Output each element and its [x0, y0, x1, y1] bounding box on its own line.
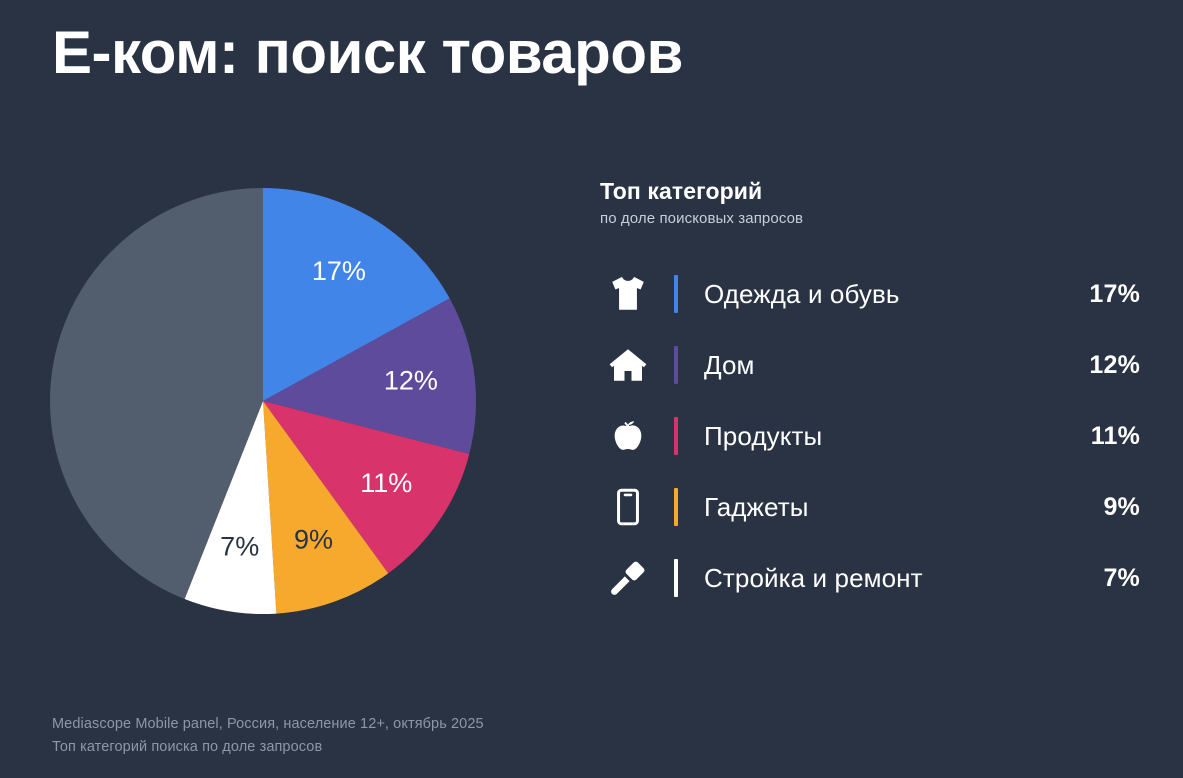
legend-row[interactable]: Стройка и ремонт7%: [600, 543, 1140, 614]
apple-icon: [600, 416, 656, 456]
pie-chart: 17%12%11%9%7%: [50, 188, 476, 614]
legend-color-swatch: [674, 488, 678, 526]
legend-color-swatch: [674, 417, 678, 455]
legend-panel: Топ категорий по доле поисковых запросов…: [600, 178, 1140, 614]
legend-label: Стройка и ремонт: [704, 563, 1062, 594]
legend-row[interactable]: Одежда и обувь17%: [600, 259, 1140, 330]
legend-row[interactable]: Гаджеты9%: [600, 472, 1140, 543]
legend-color-swatch: [674, 559, 678, 597]
legend-label: Одежда и обувь: [704, 279, 1062, 310]
paint-roller-icon: [600, 557, 656, 599]
legend-title: Топ категорий: [600, 178, 1140, 206]
legend-value: 7%: [1062, 564, 1140, 593]
pie-chart-svg: 17%12%11%9%7%: [50, 188, 476, 614]
footer-source-note: Mediascope Mobile panel, Россия, населен…: [52, 713, 484, 758]
legend-label: Продукты: [704, 421, 1062, 452]
pie-slice-label: 9%: [294, 524, 333, 554]
legend-label: Гаджеты: [704, 492, 1062, 523]
legend-color-swatch: [674, 346, 678, 384]
pie-slice-label: 12%: [384, 365, 438, 395]
tshirt-icon: [600, 273, 656, 315]
legend-row[interactable]: Продукты11%: [600, 401, 1140, 472]
house-icon: [600, 344, 656, 386]
legend-value: 11%: [1062, 422, 1140, 451]
legend-subtitle: по доле поисковых запросов: [600, 210, 1140, 227]
pie-slice-label: 11%: [360, 468, 412, 498]
legend-value: 12%: [1062, 351, 1140, 380]
smartphone-icon: [600, 486, 656, 528]
page-title: Е-ком: поиск товаров: [52, 18, 683, 87]
legend-color-swatch: [674, 275, 678, 313]
legend-label: Дом: [704, 350, 1062, 381]
footer-line-2: Топ категорий поиска по доле запросов: [52, 736, 484, 758]
legend-value: 9%: [1062, 493, 1140, 522]
legend-list: Одежда и обувь17%Дом12%Продукты11%Гаджет…: [600, 259, 1140, 614]
pie-slice-label: 17%: [312, 256, 366, 286]
pie-slice-label: 7%: [220, 531, 259, 561]
legend-value: 17%: [1062, 280, 1140, 309]
legend-row[interactable]: Дом12%: [600, 330, 1140, 401]
footer-line-1: Mediascope Mobile panel, Россия, населен…: [52, 713, 484, 735]
pie-slice-group: [50, 188, 476, 614]
